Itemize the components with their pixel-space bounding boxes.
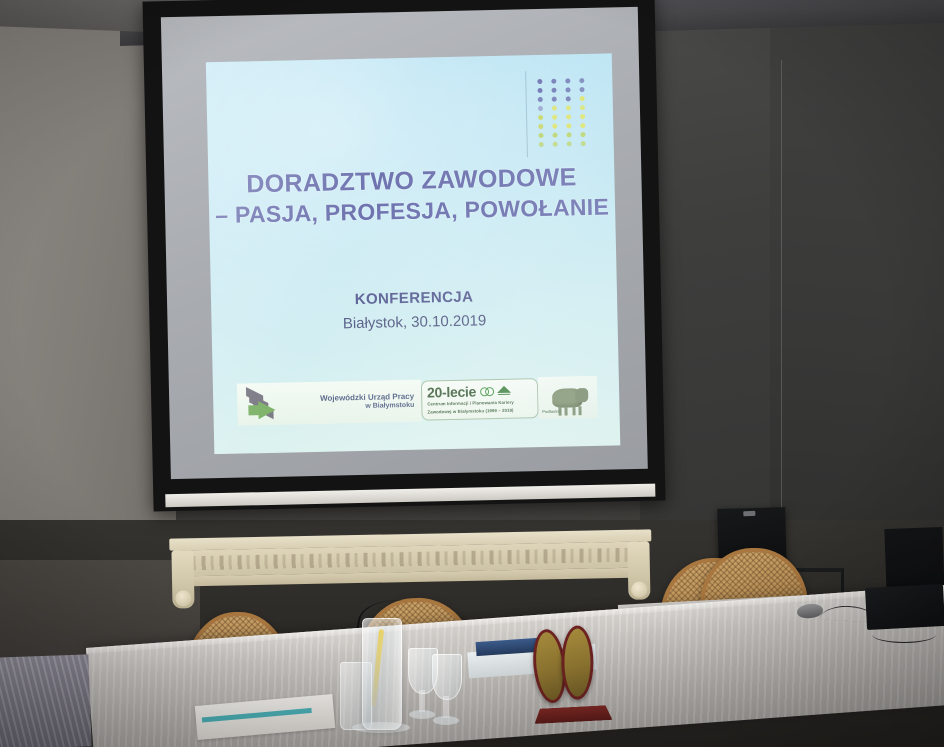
slide-location-date: Białystok, 30.10.2019 bbox=[211, 309, 617, 335]
dot bbox=[537, 97, 542, 102]
dot bbox=[565, 87, 570, 92]
slide-title: DORADZTWO ZAWODOWE – PASJA, PROFESJA, PO… bbox=[208, 161, 615, 231]
dot bbox=[566, 132, 571, 137]
dot bbox=[551, 106, 556, 111]
wup-logo-text: Wojewódzki Urząd Pracy w Białymstoku bbox=[291, 392, 414, 412]
podlaskie-bison-logo: Podlaskie bbox=[538, 376, 598, 419]
dot bbox=[552, 124, 557, 129]
wojewodzki-urzad-pracy-logo: Wojewódzki Urząd Pracy w Białymstoku bbox=[237, 380, 422, 426]
chain-link-icon bbox=[480, 386, 493, 395]
dot bbox=[580, 123, 585, 128]
dot bbox=[551, 97, 556, 102]
dot bbox=[566, 141, 571, 146]
water-carafe[interactable] bbox=[362, 618, 402, 730]
laptop-cord bbox=[872, 626, 936, 643]
side-table-left-draped bbox=[0, 654, 92, 747]
dot bbox=[565, 96, 570, 101]
dot bbox=[579, 87, 584, 92]
dot bbox=[580, 141, 585, 146]
wooden-award-plaques[interactable] bbox=[530, 624, 613, 724]
wine-goblet-2[interactable] bbox=[432, 654, 460, 732]
decorative-dot-grid-icon bbox=[532, 76, 590, 149]
dot bbox=[537, 88, 542, 93]
dot bbox=[538, 142, 543, 147]
dot bbox=[580, 132, 585, 137]
dot bbox=[579, 96, 584, 101]
dot bbox=[538, 124, 543, 129]
dot bbox=[551, 88, 556, 93]
dot-grid bbox=[532, 76, 590, 149]
dot bbox=[537, 106, 542, 111]
slide-logo-bar: Wojewódzki Urząd Pracy w Białymstoku 20-… bbox=[237, 370, 598, 432]
hill-icon bbox=[497, 386, 511, 395]
20-lecie-caption-line1: Centrum Informacji i Planowania Kariery bbox=[427, 399, 532, 408]
presentation-slide: DORADZTWO ZAWODOWE – PASJA, PROFESJA, PO… bbox=[206, 53, 620, 454]
20-lecie-headline: 20-lecie bbox=[427, 384, 476, 399]
laptop[interactable] bbox=[865, 584, 944, 630]
dot bbox=[551, 79, 556, 84]
wall-corner-seam bbox=[781, 60, 782, 560]
dot bbox=[538, 133, 543, 138]
dot bbox=[566, 123, 571, 128]
slide-subtitle-block: KONFERENCJA Białystok, 30.10.2019 bbox=[211, 285, 618, 335]
mantel-corbel-left bbox=[171, 550, 194, 608]
mantel-corbel-right bbox=[627, 541, 650, 599]
dot bbox=[537, 79, 542, 84]
wup-logo-line2: w Białymstoku bbox=[291, 401, 414, 412]
bison-icon bbox=[552, 388, 582, 408]
dot bbox=[552, 133, 557, 138]
dot bbox=[565, 78, 570, 83]
dot-grid-rule bbox=[525, 71, 528, 157]
dot bbox=[580, 114, 585, 119]
dot bbox=[552, 142, 557, 147]
dot bbox=[579, 78, 584, 83]
dot bbox=[538, 115, 543, 120]
dot bbox=[565, 105, 570, 110]
wall-right-far bbox=[770, 0, 944, 560]
podlaskie-caption: Podlaskie bbox=[542, 409, 561, 414]
conference-room-scene: DORADZTWO ZAWODOWE – PASJA, PROFESJA, PO… bbox=[0, 0, 944, 747]
dot bbox=[566, 114, 571, 119]
projection-screen: DORADZTWO ZAWODOWE – PASJA, PROFESJA, PO… bbox=[142, 0, 665, 512]
wup-mark-icon bbox=[244, 388, 287, 421]
dot bbox=[552, 115, 557, 120]
slide-subtitle: KONFERENCJA bbox=[211, 285, 617, 311]
20-lecie-caption-line2: Zawodowej w Białymstoku (1999 – 2019) bbox=[427, 407, 532, 416]
20-lecie-headline-row: 20-lecie bbox=[427, 383, 532, 399]
dot bbox=[579, 105, 584, 110]
20-lecie-badge: 20-lecie Centrum Informacji i Planowania… bbox=[421, 378, 539, 421]
